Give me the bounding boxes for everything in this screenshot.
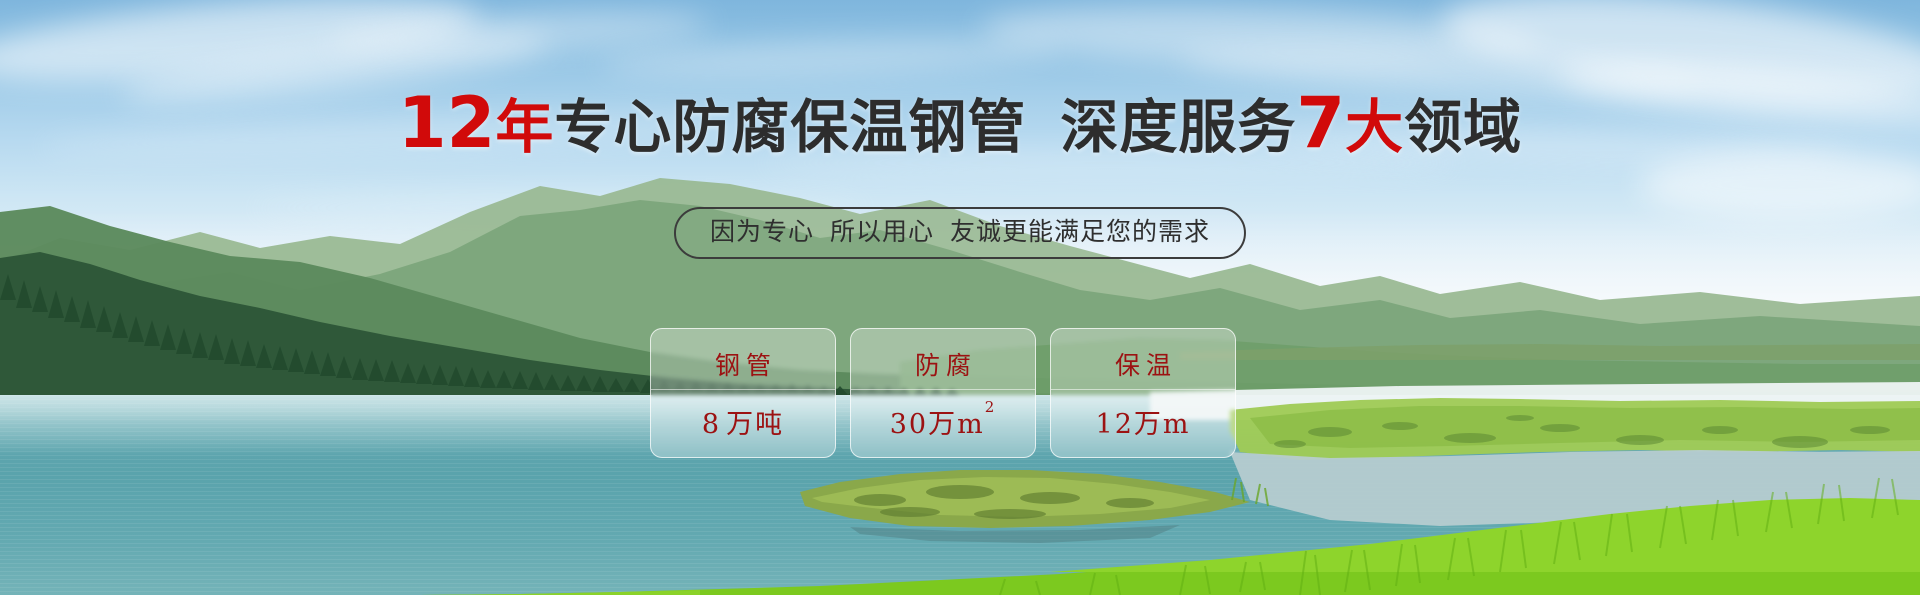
subtitle-segment-2: 所以用心 [830,217,934,246]
years-unit: 年 [495,93,554,161]
stat-unit: 万m [928,409,985,440]
subtitle-pill: 因为专心所以用心友诚更能满足您的需求 [674,207,1246,259]
stat-card-insulation[interactable]: 保温 12万m [1050,328,1236,458]
subtitle-segment-3: 友诚更能满足您的需求 [950,217,1210,246]
stat-card-title: 钢管 [709,346,777,382]
stat-number: 30 [890,409,928,440]
card-divider [851,389,1035,390]
stat-card-steel-pipe[interactable]: 钢管 8万吨 [650,328,836,458]
headline-part-1: 专心防腐保温钢管 [554,93,1026,161]
stat-card-value: 12万m [1096,402,1191,441]
headline-part-3: 领域 [1404,93,1522,161]
hero-banner: 12年专心防腐保温钢管深度服务7大领域 因为专心所以用心友诚更能满足您的需求 钢… [0,0,1920,595]
fields-number: 7 [1296,82,1345,164]
stat-card-title: 保温 [1109,346,1177,382]
stat-card-value: 8万吨 [702,402,784,441]
stat-number: 12 [1096,409,1134,440]
stat-number: 8 [702,409,721,440]
stat-card-title: 防腐 [909,346,977,382]
page-title: 12年专心防腐保温钢管深度服务7大领域 [0,88,1920,158]
stat-unit: 万m [1134,409,1191,440]
card-divider [651,389,835,390]
card-divider [1051,389,1235,390]
stat-superscript: 2 [985,398,997,416]
fields-unit: 大 [1345,93,1404,161]
years-number: 12 [398,82,495,164]
stat-unit: 万吨 [726,409,784,440]
headline-part-2: 深度服务 [1060,93,1296,161]
stat-card-anticorrosion[interactable]: 防腐 30万m2 [850,328,1036,458]
subtitle-segment-1: 因为专心 [710,217,814,246]
stat-card-value: 30万m2 [890,402,997,441]
stat-card-group: 钢管 8万吨 防腐 30万m2 保温 12万m [650,328,1236,458]
